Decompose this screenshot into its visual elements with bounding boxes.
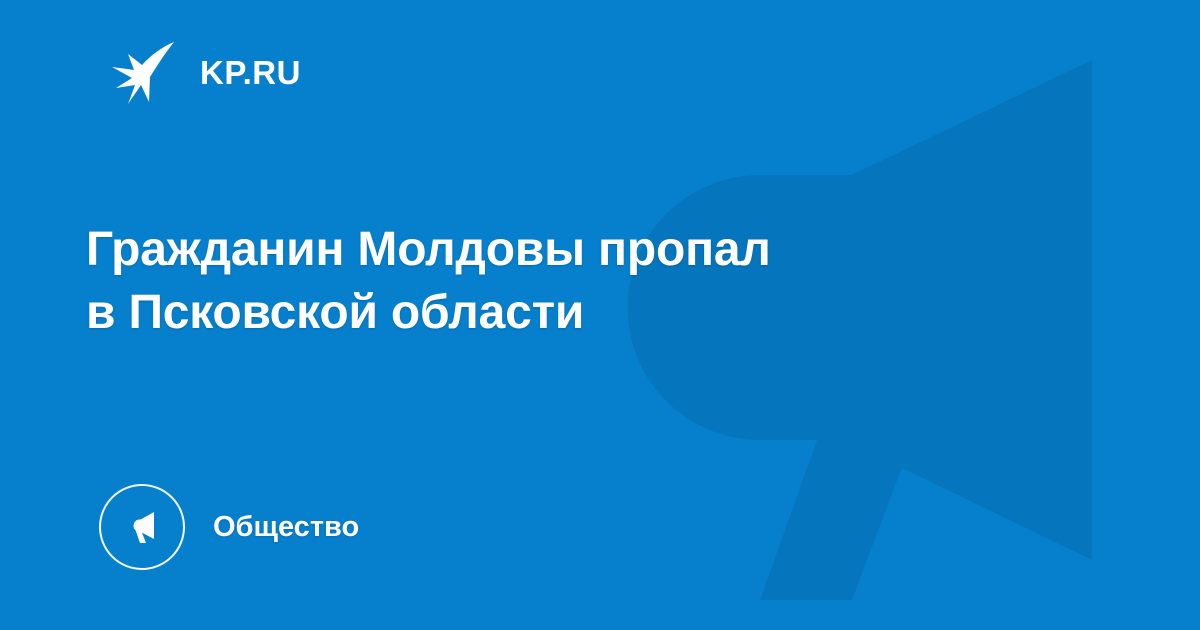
page-title: Гражданин Молдовы пропал в Псковской обл… bbox=[86, 218, 986, 345]
brand-header[interactable]: KP.RU bbox=[108, 36, 301, 108]
brand-name: KP.RU bbox=[200, 56, 301, 89]
megaphone-icon bbox=[99, 484, 185, 570]
category-label: Общество bbox=[213, 513, 359, 542]
swallow-bird-logo-icon bbox=[108, 36, 178, 108]
social-share-card: KP.RU Гражданин Молдовы пропал в Псковск… bbox=[0, 0, 1200, 630]
headline-line-2: в Псковской области bbox=[86, 281, 986, 344]
headline-line-1: Гражданин Молдовы пропал bbox=[86, 218, 986, 281]
category-badge[interactable]: Общество bbox=[99, 484, 359, 570]
